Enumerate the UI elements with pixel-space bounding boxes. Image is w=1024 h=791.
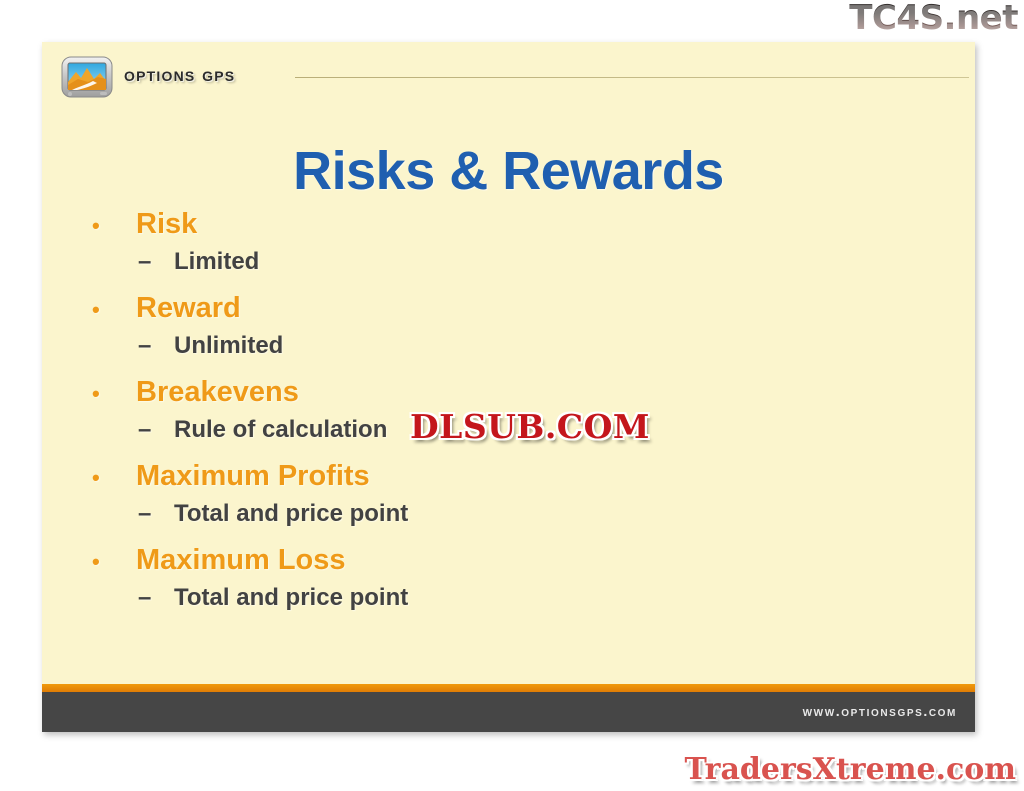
- watermark-tc4s: TC4S.net: [849, 1, 1018, 35]
- bullet-sub-label: Total and price point: [174, 502, 408, 526]
- bullet-item-level2: – Unlimited: [92, 334, 955, 358]
- bullet-item-level1: • Maximum Profits: [92, 462, 955, 491]
- bullet-item-level2: – Limited: [92, 250, 955, 274]
- bullet-marker-icon: •: [92, 551, 136, 573]
- slide-header: Options GPS: [42, 42, 975, 104]
- bullet-item-level1: • Reward: [92, 294, 955, 323]
- bullet-sub-label: Limited: [174, 250, 259, 274]
- bullet-item-level1: • Breakevens: [92, 378, 955, 407]
- bullet-label: Reward: [136, 294, 241, 323]
- watermark-dlsub: DLSUB.COM: [410, 410, 650, 443]
- bullet-marker-icon: •: [92, 215, 136, 237]
- dash-marker-icon: –: [138, 334, 174, 358]
- bullet-group: • Risk – Limited: [92, 210, 955, 274]
- bullet-marker-icon: •: [92, 467, 136, 489]
- bullet-sub-label: Total and price point: [174, 586, 408, 610]
- bullet-group: • Reward – Unlimited: [92, 294, 955, 358]
- bullet-label: Maximum Profits: [136, 462, 370, 491]
- brand-wordmark: Options GPS: [124, 64, 235, 87]
- bullet-item-level1: • Risk: [92, 210, 955, 239]
- slide-title: Risks & Rewards: [42, 140, 975, 202]
- bullet-label: Risk: [136, 210, 197, 239]
- footer-website-url: www.OptionsGPS.com: [803, 703, 957, 719]
- dash-marker-icon: –: [138, 418, 174, 442]
- footer-accent-stripe: [42, 684, 975, 692]
- bullet-item-level2: – Total and price point: [92, 586, 955, 610]
- bullet-item-level1: • Maximum Loss: [92, 546, 955, 575]
- presentation-slide: Options GPS Risks & Rewards • Risk – Lim…: [42, 42, 975, 732]
- slide-footer-bar: www.OptionsGPS.com: [42, 692, 975, 732]
- bullet-group: • Maximum Loss – Total and price point: [92, 546, 955, 610]
- dash-marker-icon: –: [138, 586, 174, 610]
- bullet-label: Maximum Loss: [136, 546, 346, 575]
- bullet-item-level2: – Total and price point: [92, 502, 955, 526]
- header-divider: [295, 77, 969, 78]
- page-canvas: Options GPS Risks & Rewards • Risk – Lim…: [0, 0, 1024, 791]
- dash-marker-icon: –: [138, 250, 174, 274]
- bullet-marker-icon: •: [92, 299, 136, 321]
- gps-device-icon: [60, 55, 116, 101]
- bullet-group: • Maximum Profits – Total and price poin…: [92, 462, 955, 526]
- dash-marker-icon: –: [138, 502, 174, 526]
- bullet-marker-icon: •: [92, 383, 136, 405]
- bullet-sub-label: Unlimited: [174, 334, 283, 358]
- bullet-label: Breakevens: [136, 378, 299, 407]
- watermark-tradersxtreme: TradersXtreme.com: [685, 755, 1016, 785]
- bullet-sub-label: Rule of calculation: [174, 418, 387, 442]
